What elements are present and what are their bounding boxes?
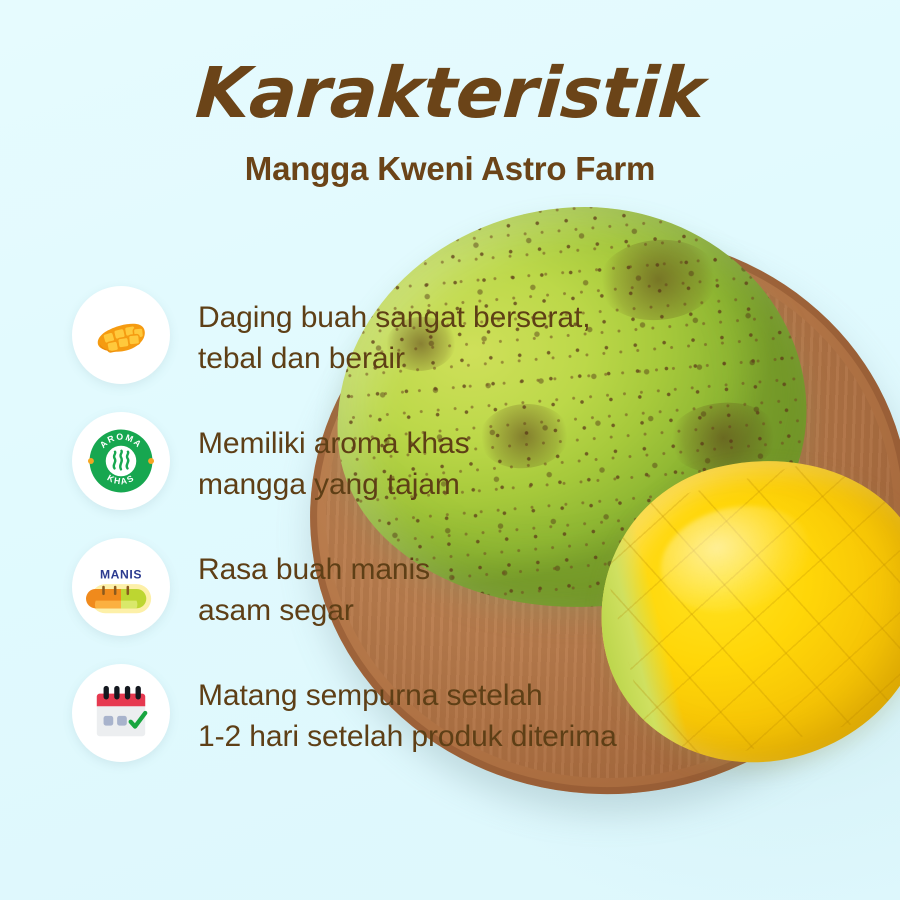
feature-item-aroma: AROMA KHAS Memiliki aroma khas mangga ya… bbox=[72, 412, 692, 518]
svg-text:MANIS: MANIS bbox=[100, 567, 142, 581]
aroma-khas-badge-icon: AROMA KHAS bbox=[72, 412, 170, 510]
feature-item-texture: Daging buah sangat berserat, tebal dan b… bbox=[72, 286, 692, 392]
feature-item-taste: MANIS Rasa buah manis asam segar bbox=[72, 538, 692, 644]
header: Karakteristik Mangga Kweni Astro Farm bbox=[0, 0, 900, 188]
page-subtitle: Mangga Kweni Astro Farm bbox=[0, 150, 900, 188]
calendar-check-icon bbox=[72, 664, 170, 762]
feature-item-label: Rasa buah manis asam segar bbox=[198, 538, 430, 632]
feature-item-ripeness: Matang sempurna setelah 1-2 hari setelah… bbox=[72, 664, 692, 770]
feature-list: Daging buah sangat berserat, tebal dan b… bbox=[72, 286, 692, 770]
diced-mango-icon bbox=[72, 286, 170, 384]
feature-item-label: Memiliki aroma khas mangga yang tajam bbox=[198, 412, 470, 506]
infographic-canvas: Karakteristik Mangga Kweni Astro Farm bbox=[0, 0, 900, 900]
page-title: Karakteristik bbox=[193, 58, 706, 128]
manis-capsule-icon: MANIS bbox=[72, 538, 170, 636]
feature-item-label: Matang sempurna setelah 1-2 hari setelah… bbox=[198, 664, 617, 758]
feature-item-label: Daging buah sangat berserat, tebal dan b… bbox=[198, 286, 590, 380]
